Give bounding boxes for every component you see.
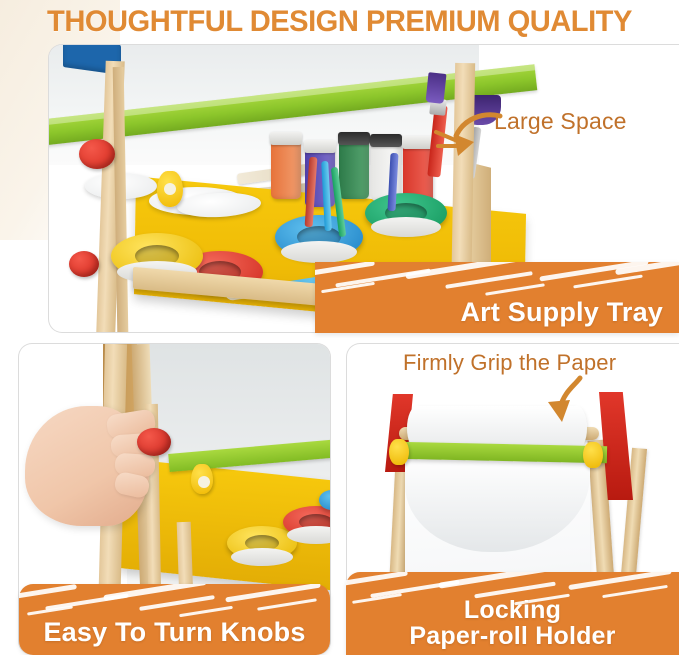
jar-cap	[370, 134, 402, 147]
banner-label-line2: Paper-roll Holder	[346, 623, 679, 649]
cup-base	[371, 217, 441, 237]
paint-jar	[271, 141, 301, 199]
yellow-locking-knob[interactable]	[583, 442, 603, 468]
banner-art-supply-tray: Art Supply Tray	[315, 262, 679, 333]
annotation-firmly-grip-the-paper: Firmly Grip the Paper	[403, 350, 616, 376]
red-adjustment-knob	[69, 251, 99, 277]
banner-label-line1: Locking	[346, 597, 679, 623]
banner-label: Art Supply Tray	[460, 298, 663, 326]
banner-easy-turn-knobs: Easy To Turn Knobs	[19, 584, 330, 655]
header: THOUGHTFUL DESIGN PREMIUM QUALITY	[0, 0, 679, 44]
paint-jar	[339, 141, 369, 199]
banner-locking-paper-roll-holder: Locking Paper-roll Holder	[346, 572, 679, 655]
red-adjustment-knob	[79, 139, 115, 169]
jar-cap	[338, 132, 370, 145]
brush-stroke-texture	[315, 262, 679, 296]
yellow-locking-knob[interactable]	[389, 439, 409, 465]
paintbrush-bristles	[425, 72, 446, 104]
banner-label: Easy To Turn Knobs	[19, 618, 330, 646]
yellow-locking-knob	[157, 171, 183, 207]
jar-cap	[402, 136, 434, 149]
annotation-large-space: Large Space	[494, 108, 627, 135]
brush-stroke-texture	[19, 584, 330, 618]
cup-base	[231, 548, 293, 566]
jar-cap	[270, 132, 302, 145]
red-adjustment-knob[interactable]	[137, 428, 171, 456]
cup-base	[281, 241, 357, 263]
jar-cap	[304, 140, 336, 153]
banner-label: Locking Paper-roll Holder	[346, 597, 679, 649]
page-title: THOUGHTFUL DESIGN PREMIUM QUALITY	[47, 5, 632, 39]
curved-arrow-down-icon	[540, 374, 588, 430]
yellow-locking-knob	[191, 464, 213, 494]
curved-arrow-down-left-icon	[434, 110, 504, 170]
